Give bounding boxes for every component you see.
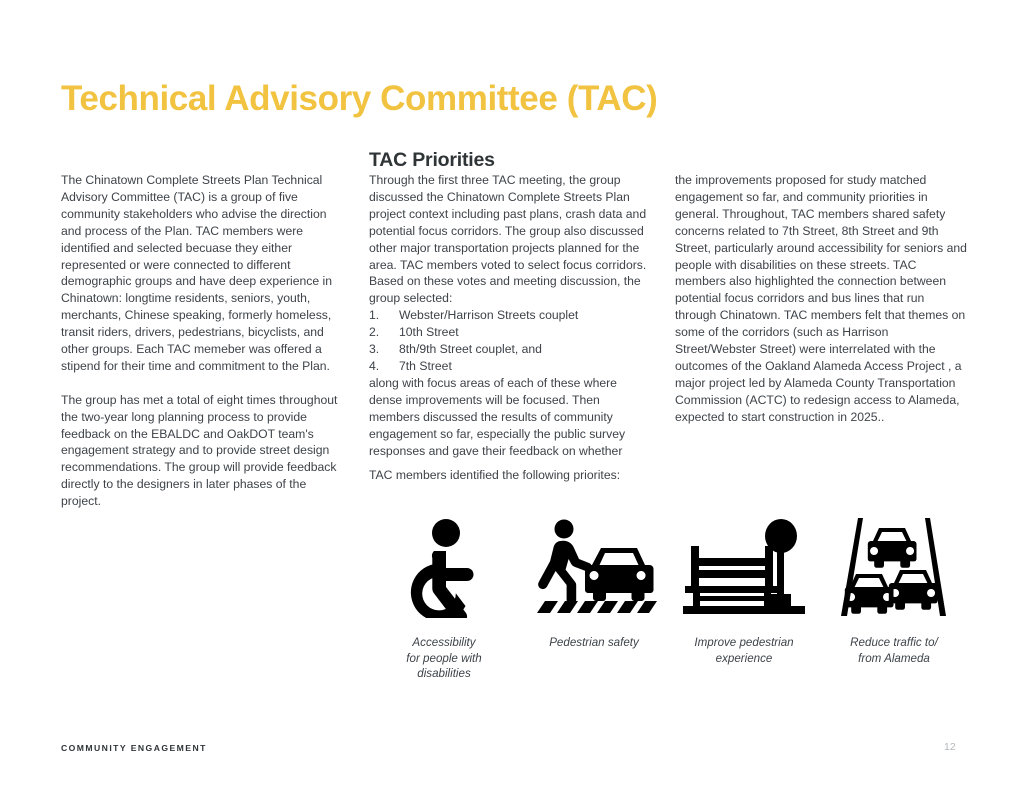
priority-item-reduce-traffic: Reduce traffic to/ from Alameda xyxy=(819,518,969,666)
priority-item-accessibility: Accessibility for people with disabiliti… xyxy=(369,518,519,682)
column2-trailing-line: TAC members identified the following pri… xyxy=(369,467,659,484)
list-item-number: 1. xyxy=(369,307,379,324)
page-number: 12 xyxy=(944,741,956,753)
column1-paragraph-2: The group has met a total of eight times… xyxy=(61,392,349,510)
list-item: 3. 8th/9th Street couplet, and xyxy=(369,341,651,358)
document-page: Technical Advisory Committee (TAC) TAC P… xyxy=(0,0,1024,791)
list-item-label: Webster/Harrison Streets couplet xyxy=(399,308,578,322)
priority-caption: Improve pedestrian experience xyxy=(694,635,793,666)
list-item-label: 8th/9th Street couplet, and xyxy=(399,342,542,356)
list-item-label: 10th Street xyxy=(399,325,459,339)
column2-paragraph-1: Through the first three TAC meeting, the… xyxy=(369,172,651,307)
traffic-congestion-cars-icon xyxy=(836,518,952,618)
list-item-number: 3. xyxy=(369,341,379,358)
priority-item-improve-pedestrian-experience: Improve pedestrian experience xyxy=(669,518,819,666)
priority-caption: Accessibility for people with disabiliti… xyxy=(406,635,481,682)
page-title: Technical Advisory Committee (TAC) xyxy=(61,80,657,119)
section-heading-tac-priorities: TAC Priorities xyxy=(369,149,495,172)
priority-icon-row: Accessibility for people with disabiliti… xyxy=(369,518,969,682)
list-item: 4. 7th Street xyxy=(369,358,651,375)
text-column-2: Through the first three TAC meeting, the… xyxy=(369,172,651,459)
list-item: 1. Webster/Harrison Streets couplet xyxy=(369,307,651,324)
column2-paragraph-2: along with focus areas of each of these … xyxy=(369,375,651,460)
list-item-number: 2. xyxy=(369,324,379,341)
list-item-label: 7th Street xyxy=(399,359,452,373)
priority-item-pedestrian-safety: Pedestrian safety xyxy=(519,518,669,651)
bench-streetlight-icon xyxy=(683,518,805,618)
wheelchair-accessibility-icon xyxy=(398,518,490,618)
pedestrian-crosswalk-car-icon xyxy=(531,518,657,618)
text-column-1: The Chinatown Complete Streets Plan Tech… xyxy=(61,172,349,510)
list-item: 2. 10th Street xyxy=(369,324,651,341)
list-item-number: 4. xyxy=(369,358,379,375)
priority-corridor-list: 1. Webster/Harrison Streets couplet 2. 1… xyxy=(369,307,651,375)
priority-caption: Reduce traffic to/ from Alameda xyxy=(850,635,938,666)
footer-section-label: COMMUNITY ENGAGEMENT xyxy=(61,743,207,753)
text-column-3: the improvements proposed for study matc… xyxy=(675,172,968,426)
priority-caption: Pedestrian safety xyxy=(549,635,639,651)
column1-paragraph-1: The Chinatown Complete Streets Plan Tech… xyxy=(61,172,349,375)
column3-paragraph-1: the improvements proposed for study matc… xyxy=(675,172,968,426)
